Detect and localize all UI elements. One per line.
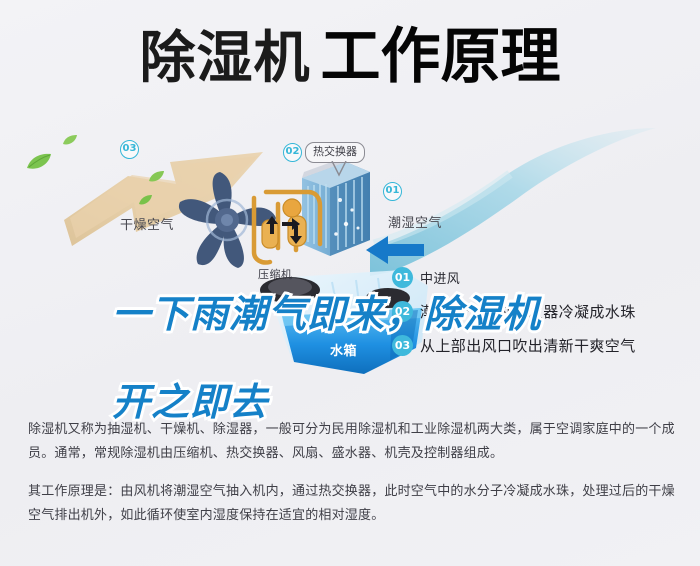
diagram-badge-02: 02 <box>283 143 302 162</box>
leaf-icon <box>138 194 153 207</box>
caption-humid-air: 潮湿空气 <box>388 212 442 231</box>
leaf-icon <box>62 134 78 147</box>
page-title: 除湿机工作原理 <box>0 26 700 90</box>
diagram-badge-03: 03 <box>120 140 139 159</box>
overlay-headline-line1: 一下雨潮气即来，除湿机 <box>112 292 672 336</box>
infographic-page: 除湿机工作原理 <box>0 0 700 566</box>
heat-exchanger-callout: 热交换器 <box>305 142 365 163</box>
leaf-icon <box>26 152 52 172</box>
leaf-icon <box>148 170 165 184</box>
caption-dry-air: 干燥空气 <box>120 214 174 233</box>
page-title-part1: 除湿机 <box>140 26 311 91</box>
callout-tail-icon <box>330 161 348 177</box>
diagram-badge-01: 01 <box>383 182 402 201</box>
body-paragraph-1: 除湿机又称为抽湿机、干燥机、除湿器，一般可分为民用除湿机和工业除湿机两大类，属于… <box>28 418 676 466</box>
body-copy: 除湿机又称为抽湿机、干燥机、除湿器，一般可分为民用除湿机和工业除湿机两大类，属于… <box>28 418 676 542</box>
page-title-part2: 工作原理 <box>321 22 561 92</box>
body-paragraph-2: 其工作原理是：由风机将潮湿空气抽入机内，通过热交换器，此时空气中的水分子冷凝成水… <box>28 480 676 528</box>
